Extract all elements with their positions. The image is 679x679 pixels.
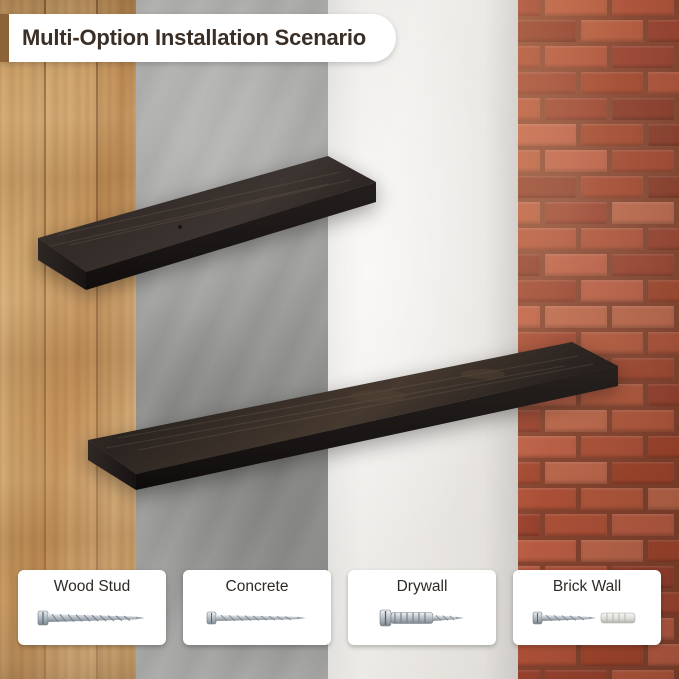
- option-card-concrete[interactable]: Concrete: [183, 570, 331, 645]
- option-label: Brick Wall: [519, 578, 655, 596]
- floating-shelf-upper: [28, 150, 388, 300]
- option-label: Concrete: [189, 578, 325, 596]
- banner-accent-bar: [0, 14, 9, 62]
- option-card-drywall[interactable]: Drywall: [348, 570, 496, 645]
- option-card-wood-stud[interactable]: Wood Stud: [18, 570, 166, 645]
- option-label: Drywall: [354, 578, 490, 596]
- wood-screw-icon: [24, 601, 160, 635]
- brick-screw-plug-icon: [519, 601, 655, 635]
- installation-options-row: Wood Stud: [0, 570, 679, 645]
- title-banner: Multi-Option Installation Scenario: [0, 14, 396, 62]
- option-card-brick-wall[interactable]: Brick Wall: [513, 570, 661, 645]
- page-title: Multi-Option Installation Scenario: [22, 25, 366, 51]
- option-label: Wood Stud: [24, 578, 160, 596]
- drywall-toggle-anchor-icon: [354, 601, 490, 635]
- floating-shelf-lower: [78, 330, 638, 495]
- product-infographic: Multi-Option Installation Scenario: [0, 0, 679, 679]
- concrete-screw-anchor-icon: [189, 601, 325, 635]
